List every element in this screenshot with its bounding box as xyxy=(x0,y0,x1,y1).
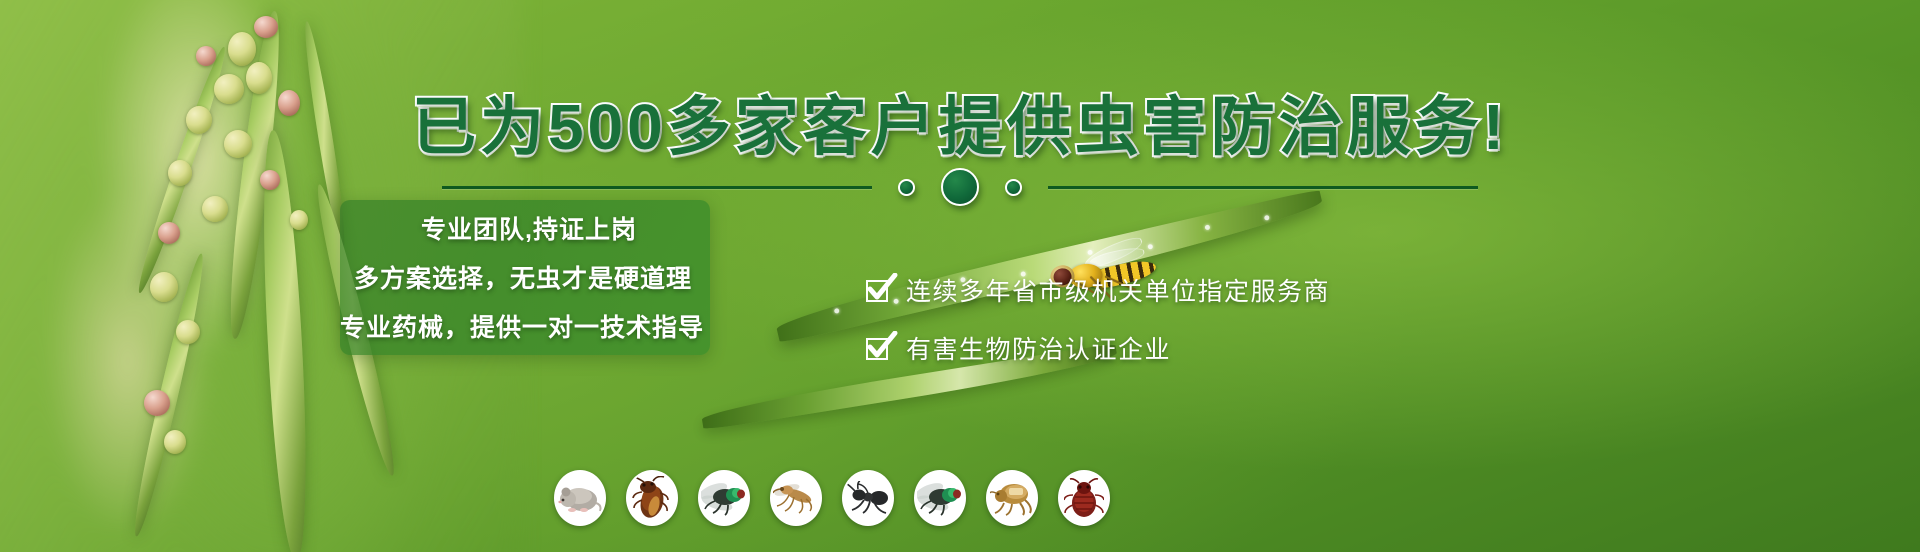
banner-headline: 已为500多家客户提供虫害防治服务! xyxy=(0,76,1920,168)
credentials-checklist: 连续多年省市级机关单位指定服务商 有害生物防治认证企业 xyxy=(866,272,1330,366)
housefly-icon[interactable] xyxy=(914,470,966,526)
bedbug-icon[interactable] xyxy=(1058,470,1110,526)
checklist-item-label: 有害生物防治认证企业 xyxy=(906,330,1171,366)
checkbox-checked-icon xyxy=(866,335,892,361)
mosquito-icon[interactable] xyxy=(770,470,822,526)
cockroach-icon[interactable] xyxy=(626,470,678,526)
selling-point-3: 专业药械，提供一对一技术指导 xyxy=(334,308,710,344)
ant-icon[interactable] xyxy=(842,470,894,526)
divider xyxy=(0,168,1920,206)
divider-dot-small-right xyxy=(1005,179,1022,196)
selling-point-2: 多方案选择，无虫才是硬道理 xyxy=(336,259,710,295)
blowfly-icon[interactable] xyxy=(698,470,750,526)
flea-icon[interactable] xyxy=(986,470,1038,526)
divider-dot-small-left xyxy=(898,179,915,196)
divider-rule-right xyxy=(1048,186,1478,189)
mouse-icon[interactable] xyxy=(554,470,606,526)
pest-icon-strip xyxy=(554,470,1110,526)
checklist-item-label: 连续多年省市级机关单位指定服务商 xyxy=(906,272,1330,308)
promo-banner: 已为500多家客户提供虫害防治服务! 专业团队,持证上岗 多方案选择，无虫才是硬… xyxy=(0,0,1920,552)
checklist-item: 有害生物防治认证企业 xyxy=(866,330,1330,366)
selling-point-1: 专业团队,持证上岗 xyxy=(340,210,710,246)
checklist-item: 连续多年省市级机关单位指定服务商 xyxy=(866,272,1330,308)
divider-dot-large xyxy=(941,168,979,206)
banner-headline-text: 已为500多家客户提供虫害防治服务! xyxy=(412,91,1508,163)
selling-points-panel: 专业团队,持证上岗 多方案选择，无虫才是硬道理 专业药械，提供一对一技术指导 xyxy=(340,200,710,355)
checkbox-checked-icon xyxy=(866,277,892,303)
divider-dots xyxy=(872,168,1048,206)
divider-rule-left xyxy=(442,186,872,189)
